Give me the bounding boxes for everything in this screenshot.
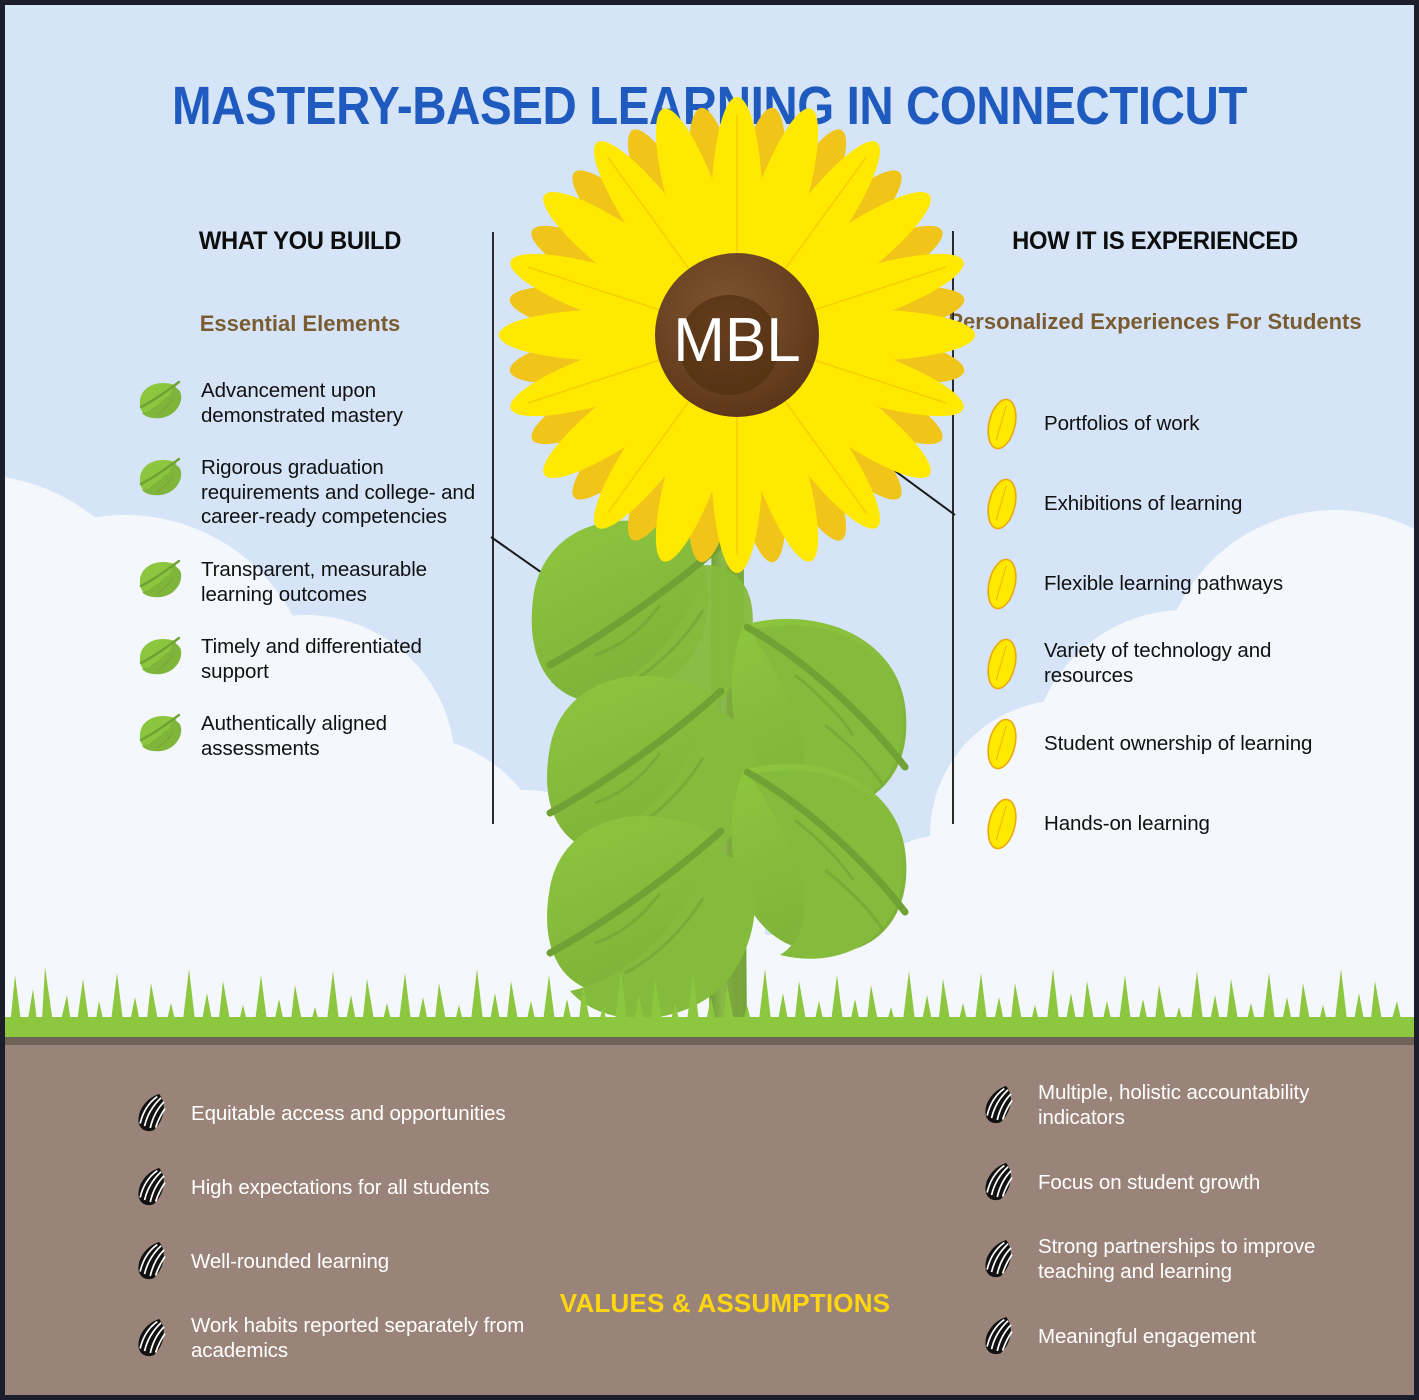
list-item: Flexible learning pathways — [980, 557, 1360, 611]
list-item-label: Hands-on learning — [1042, 812, 1210, 837]
page-title: MASTERY-BASED LEARNING IN CONNECTICUT — [90, 75, 1330, 137]
list-item-label: Transparent, measurable learning outcome… — [201, 554, 495, 607]
seed-icon — [133, 1091, 191, 1135]
list-item-label: Student ownership of learning — [1042, 732, 1312, 757]
personalized-experiences-list: Portfolios of work Exhibitions of learni… — [980, 397, 1360, 877]
list-item: Equitable access and opportunities — [133, 1091, 553, 1135]
seed-icon — [980, 1237, 1038, 1281]
list-item: Advancement upon demonstrated mastery — [135, 375, 495, 428]
right-column-subheading: Personalized Experiences For Students — [945, 308, 1365, 336]
list-item-label: Equitable access and opportunities — [191, 1101, 506, 1126]
petal-icon — [980, 477, 1042, 531]
list-item: Transparent, measurable learning outcome… — [135, 554, 495, 607]
list-item: Variety of technology and resources — [980, 637, 1360, 691]
left-column-subheading: Essential Elements — [90, 310, 510, 338]
values-left-list: Equitable access and opportunities High … — [133, 1091, 553, 1393]
values-right-list: Multiple, holistic accountability indica… — [980, 1080, 1380, 1388]
infographic-poster: MASTERY-BASED LEARNING IN CONNECTICUT WH… — [0, 0, 1419, 1400]
list-item-label: Meaningful engagement — [1038, 1324, 1256, 1349]
list-item: Exhibitions of learning — [980, 477, 1360, 531]
list-item-label: Well-rounded learning — [191, 1249, 389, 1274]
leaf-icon — [135, 377, 201, 421]
seed-icon — [980, 1314, 1038, 1358]
essential-elements-list: Advancement upon demonstrated mastery Ri… — [135, 375, 495, 786]
list-item: High expectations for all students — [133, 1165, 553, 1209]
list-item: Hands-on learning — [980, 797, 1360, 851]
leaf-icon — [135, 454, 201, 498]
seed-icon — [980, 1160, 1038, 1204]
grass-band — [5, 957, 1414, 1042]
list-item-label: Focus on student growth — [1038, 1170, 1260, 1195]
leaf-icon — [135, 633, 201, 677]
right-column-heading: HOW IT IS EXPERIENCED — [956, 227, 1355, 256]
petal-icon — [980, 717, 1042, 771]
list-item-label: Authentically aligned assessments — [201, 708, 495, 761]
leaf-icon — [135, 556, 201, 600]
list-item-label: Multiple, holistic accountability indica… — [1038, 1080, 1380, 1130]
petal-icon — [980, 797, 1042, 851]
list-item-label: Flexible learning pathways — [1042, 572, 1283, 597]
list-item-label: Exhibitions of learning — [1042, 492, 1242, 517]
list-item-label: Advancement upon demonstrated mastery — [201, 375, 495, 428]
list-item: Well-rounded learning — [133, 1239, 553, 1283]
list-item-label: Variety of technology and resources — [1042, 639, 1360, 688]
list-item: Student ownership of learning — [980, 717, 1360, 771]
left-column-heading: WHAT YOU BUILD — [101, 227, 500, 256]
petal-icon — [980, 637, 1042, 691]
list-item-label: Work habits reported separately from aca… — [191, 1313, 553, 1363]
list-item: Strong partnerships to improve teaching … — [980, 1234, 1380, 1284]
petal-icon — [980, 557, 1042, 611]
list-item: Multiple, holistic accountability indica… — [980, 1080, 1380, 1130]
seed-icon — [133, 1239, 191, 1283]
seed-icon — [980, 1083, 1038, 1127]
left-connector-line — [489, 535, 609, 615]
list-item-label: Strong partnerships to improve teaching … — [1038, 1234, 1380, 1284]
list-item: Focus on student growth — [980, 1160, 1380, 1204]
list-item-label: High expectations for all students — [191, 1175, 490, 1200]
list-item-label: Timely and differentiated support — [201, 631, 495, 684]
leaf-icon — [135, 710, 201, 754]
seed-icon — [133, 1316, 191, 1360]
list-item-label: Portfolios of work — [1042, 412, 1199, 437]
petal-icon — [980, 397, 1042, 451]
flower-center-label: MBL — [639, 305, 835, 376]
values-assumptions-label: VALUES & ASSUMPTIONS — [475, 1288, 975, 1319]
list-item-label: Rigorous graduation requirements and col… — [201, 452, 495, 530]
list-item: Meaningful engagement — [980, 1314, 1380, 1358]
list-item: Rigorous graduation requirements and col… — [135, 452, 495, 530]
list-item: Timely and differentiated support — [135, 631, 495, 684]
list-item: Work habits reported separately from aca… — [133, 1313, 553, 1363]
seed-icon — [133, 1165, 191, 1209]
list-item: Authentically aligned assessments — [135, 708, 495, 761]
list-item: Portfolios of work — [980, 397, 1360, 451]
